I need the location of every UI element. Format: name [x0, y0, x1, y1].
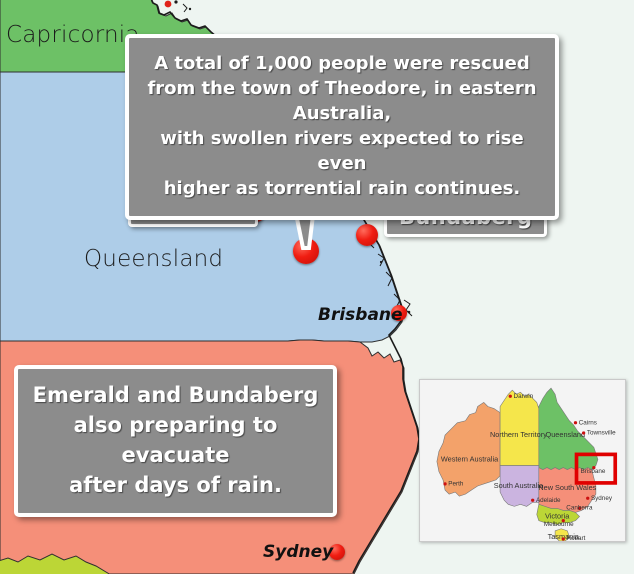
- city-marker-bundaberg[interactable]: [356, 224, 378, 246]
- callout-secondary-line-2: also preparing to evacuate: [32, 410, 319, 470]
- inset-city-darwin: Darwin: [514, 393, 534, 400]
- inset-label-western-australia: Western Australia: [441, 455, 499, 464]
- inset-city-brisbane: Brisbane: [581, 468, 606, 475]
- callout-main-line-3: with swollen rivers expected to rise eve…: [143, 126, 541, 176]
- inset-city-canberra: Canberra: [566, 505, 593, 512]
- inset-city-perth: Perth: [448, 481, 464, 488]
- inset-label-northern-territory: Northern Territory: [490, 430, 547, 439]
- callout-main-line-1: A total of 1,000 people were rescued: [143, 51, 541, 76]
- inset-state-northern-territory: [500, 390, 539, 465]
- callout-secondary-line-1: Emerald and Bundaberg: [32, 380, 319, 410]
- callout-main: A total of 1,000 people were rescued fro…: [125, 34, 559, 220]
- inset-city-townsville: Townsville: [587, 430, 616, 437]
- inset-city-hobart: Hobart: [567, 535, 586, 541]
- city-label-sydney: Sydney: [263, 542, 333, 562]
- city-label-brisbane: Brisbane: [318, 305, 403, 325]
- inset-city-adelaide: Adelaide: [536, 497, 561, 504]
- inset-label-victoria: Victoria: [545, 512, 570, 521]
- inset-label-south-australia: South Australia: [494, 481, 544, 490]
- region-label-capricornia: Capricornia: [6, 22, 140, 48]
- inset-map-svg: Western Australia Northern Territory Sou…: [420, 380, 625, 541]
- callout-secondary: Emerald and Bundaberg also preparing to …: [14, 365, 337, 517]
- callout-main-line-2: from the town of Theodore, in eastern Au…: [143, 76, 541, 126]
- inset-city-sydney: Sydney: [591, 495, 613, 502]
- callout-secondary-line-3: after days of rain.: [32, 470, 319, 500]
- callout-main-line-4: higher as torrential rain continues.: [143, 176, 541, 201]
- inset-city-cairns: Cairns: [579, 419, 597, 426]
- region-label-queensland: Queensland: [84, 246, 223, 272]
- inset-label-queensland: Queensland: [546, 430, 586, 439]
- inset-city-melbourne: Melbourne: [544, 521, 574, 528]
- map-canvas: Capricornia Queensland New South Wales B…: [0, 0, 634, 574]
- city-marker-theodore[interactable]: [293, 238, 319, 264]
- north-coast-marker: [165, 1, 172, 8]
- inset-locator-map[interactable]: Western Australia Northern Territory Sou…: [419, 379, 626, 542]
